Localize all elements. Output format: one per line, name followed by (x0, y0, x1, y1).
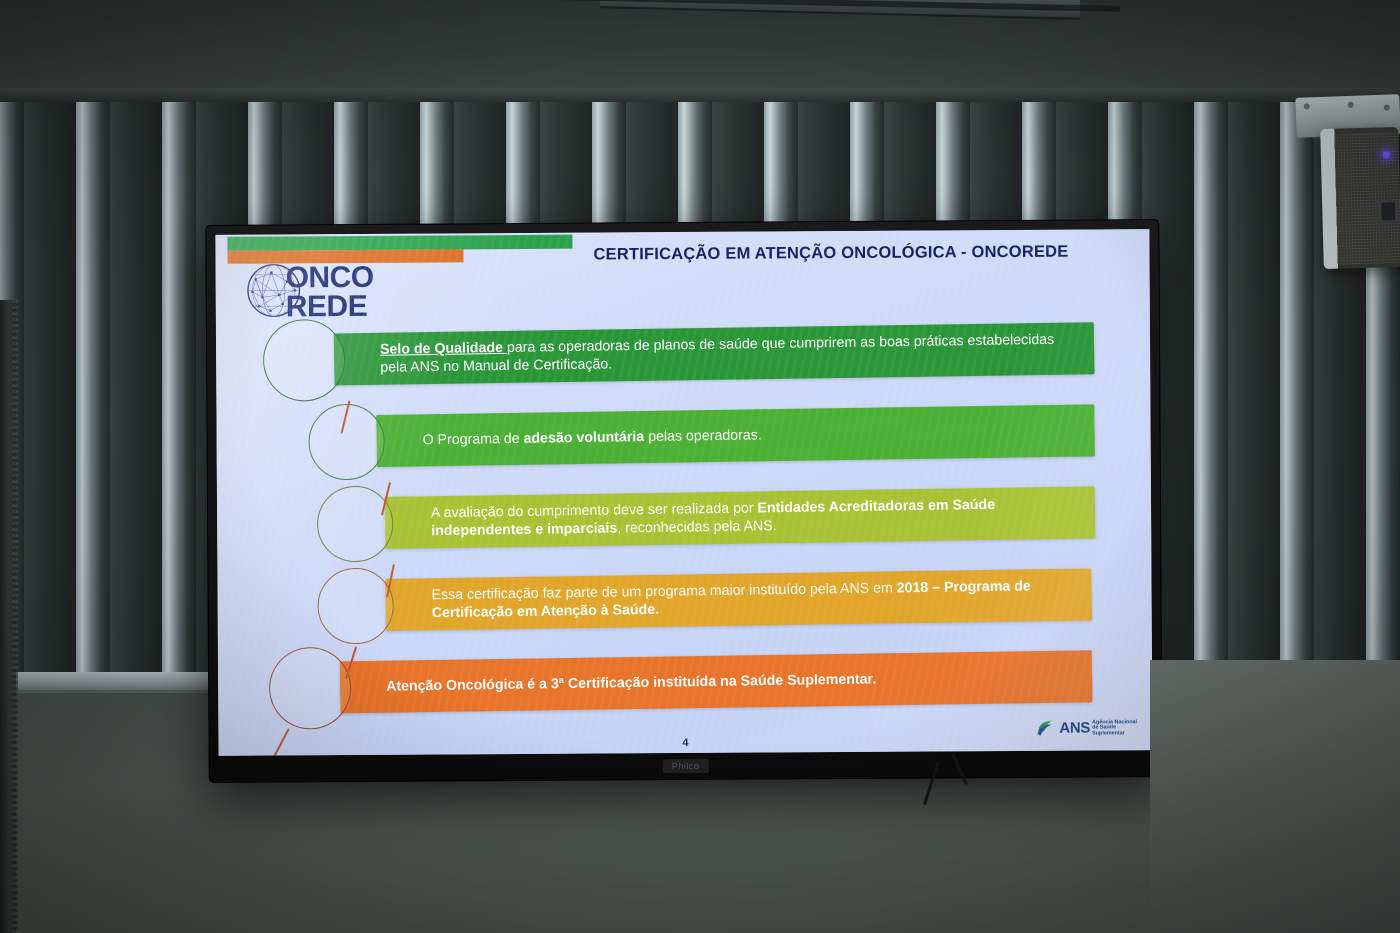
slide-item-text: Atenção Oncológica é a 3ª Certificação i… (386, 670, 876, 695)
slide-item-text: Essa certificação faz parte de um progra… (431, 576, 1077, 622)
accent-bar-green (227, 235, 572, 251)
lower-wall-right (1150, 660, 1400, 933)
slide-item-row: Selo de Qualidade para as operadoras de … (216, 323, 1150, 407)
ans-logo-text: ANS (1059, 720, 1090, 737)
slide-title: CERTIFICAÇÃO EM ATENÇÃO ONCOLÓGICA - ONC… (593, 242, 1123, 264)
wall-speaker (1320, 127, 1400, 269)
logo-line-1: ONCO (286, 264, 374, 293)
slide-item-text: Selo de Qualidade para as operadoras de … (380, 330, 1080, 377)
television[interactable]: CERTIFICAÇÃO EM ATENÇÃO ONCOLÓGICA - ONC… (206, 220, 1161, 782)
presentation-slide: CERTIFICAÇÃO EM ATENÇÃO ONCOLÓGICA - ONC… (215, 229, 1152, 756)
slide-item-text: A avaliação do cumprimento deve ser real… (431, 494, 1081, 540)
ir-sensor-icon (1380, 201, 1397, 221)
tv-screen[interactable]: CERTIFICAÇÃO EM ATENÇÃO ONCOLÓGICA - ONC… (215, 229, 1152, 756)
blind-slat (1280, 88, 1314, 688)
blind-slat (76, 88, 110, 688)
timeline-node (263, 319, 345, 401)
slide-item-row: A avaliação do cumprimento deve ser real… (217, 487, 1151, 571)
slide-item-row: Atenção Oncológica é a 3ª Certificação i… (218, 651, 1152, 735)
slide-item-bar: Atenção Oncológica é a 3ª Certificação i… (340, 650, 1093, 713)
slide-item-text: O Programa de adesão voluntária pelas op… (423, 426, 762, 449)
timeline-node (269, 647, 351, 729)
slide-item-list: Selo de Qualidade para as operadoras de … (216, 321, 1153, 747)
timeline-node (317, 486, 393, 562)
slide-item-bar: O Programa de adesão voluntária pelas op… (376, 404, 1095, 467)
ans-leaf-icon (1036, 717, 1056, 741)
door-frame-trim (12, 300, 18, 933)
room-scene: CERTIFICAÇÃO EM ATENÇÃO ONCOLÓGICA - ONC… (0, 0, 1400, 933)
ans-logo: ANS Agência Nacional de Saúde Suplementa… (1036, 714, 1140, 743)
tv-brand-label: Philco (663, 759, 709, 773)
slide-item-bar: Selo de Qualidade para as operadoras de … (334, 322, 1095, 385)
ans-line-2: de Saúde Suplementar (1092, 725, 1140, 736)
blind-slat (1194, 88, 1228, 688)
oncorede-logo: ONCO REDE (246, 260, 406, 329)
tv-bezel: CERTIFICAÇÃO EM ATENÇÃO ONCOLÓGICA - ONC… (206, 220, 1161, 782)
blind-slat (110, 88, 162, 688)
blind-slat (162, 88, 196, 688)
slide-item-bar: Essa certificação faz parte de um progra… (385, 568, 1092, 630)
blind-slat (24, 88, 76, 688)
blind-slat (1228, 88, 1280, 688)
slide-item-row: O Programa de adesão voluntária pelas op… (216, 405, 1150, 489)
slide-item-row: Essa certificação faz parte de um progra… (217, 569, 1151, 653)
oncorede-logo-text: ONCO REDE (286, 264, 374, 322)
blind-headrail (0, 88, 1400, 102)
logo-line-2: REDE (286, 293, 374, 322)
timeline-node (317, 568, 393, 644)
slide-page-number: 4 (682, 737, 688, 749)
ans-logo-subtitle: Agência Nacional de Saúde Suplementar (1092, 720, 1140, 737)
speaker-grille-icon (1334, 131, 1400, 265)
ceiling (0, 0, 1400, 92)
ans-acronym: ANS (1059, 719, 1090, 736)
slide-item-bar: A avaliação do cumprimento deve ser real… (385, 486, 1096, 549)
